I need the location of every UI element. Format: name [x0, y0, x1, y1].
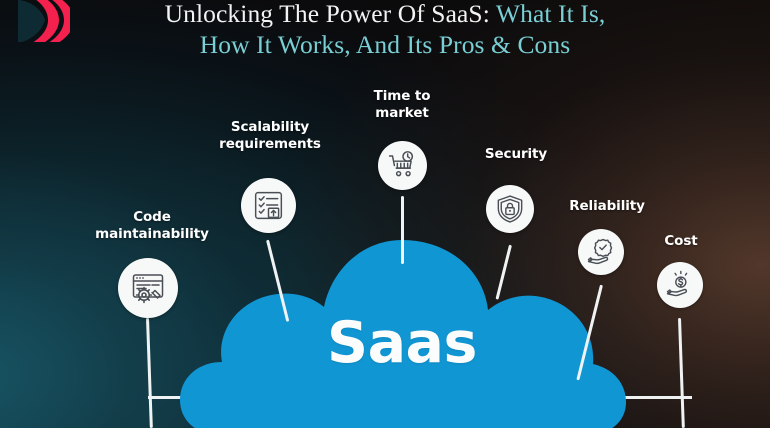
pin-bubble-code-maintainability[interactable]	[118, 258, 178, 318]
pin-bubble-time-to-market[interactable]	[378, 141, 427, 190]
saas-infographic: Unlocking The Power Of SaaS: What It Is,…	[0, 0, 770, 428]
pin-stem-cost	[678, 318, 685, 428]
browser-gears-icon	[130, 270, 166, 306]
hand-coin-dollar-icon	[665, 270, 695, 300]
pin-label-cost: Cost	[601, 233, 761, 250]
cloud-label: Saas	[178, 310, 626, 376]
pin-label-time-to-market: Time to market	[322, 88, 482, 122]
pin-label-reliability: Reliability	[527, 198, 687, 215]
pin-stem-time-to-market	[401, 196, 404, 264]
title-line-1: Unlocking The Power Of SaaS: What It Is,	[0, 0, 770, 29]
shopping-cart-clock-icon	[387, 150, 418, 181]
title-line-2: How It Works, And Its Pros & Cons	[0, 29, 770, 60]
page-title: Unlocking The Power Of SaaS: What It Is,…	[0, 0, 770, 60]
checklist-upload-icon	[252, 189, 285, 222]
pin-label-security: Security	[436, 146, 596, 163]
pin-label-code-maintainability: Code maintainability	[72, 209, 232, 243]
pin-label-scalability-requirements: Scalability requirements	[190, 119, 350, 153]
title-line-1-cyan: What It Is,	[496, 0, 605, 28]
pin-stem-code-maintainability	[146, 318, 153, 428]
pin-bubble-scalability-requirements[interactable]	[241, 178, 296, 233]
title-line-1-white: Unlocking The Power Of SaaS:	[165, 0, 496, 28]
pin-bubble-cost[interactable]	[657, 262, 703, 308]
shield-lock-icon	[495, 194, 525, 224]
